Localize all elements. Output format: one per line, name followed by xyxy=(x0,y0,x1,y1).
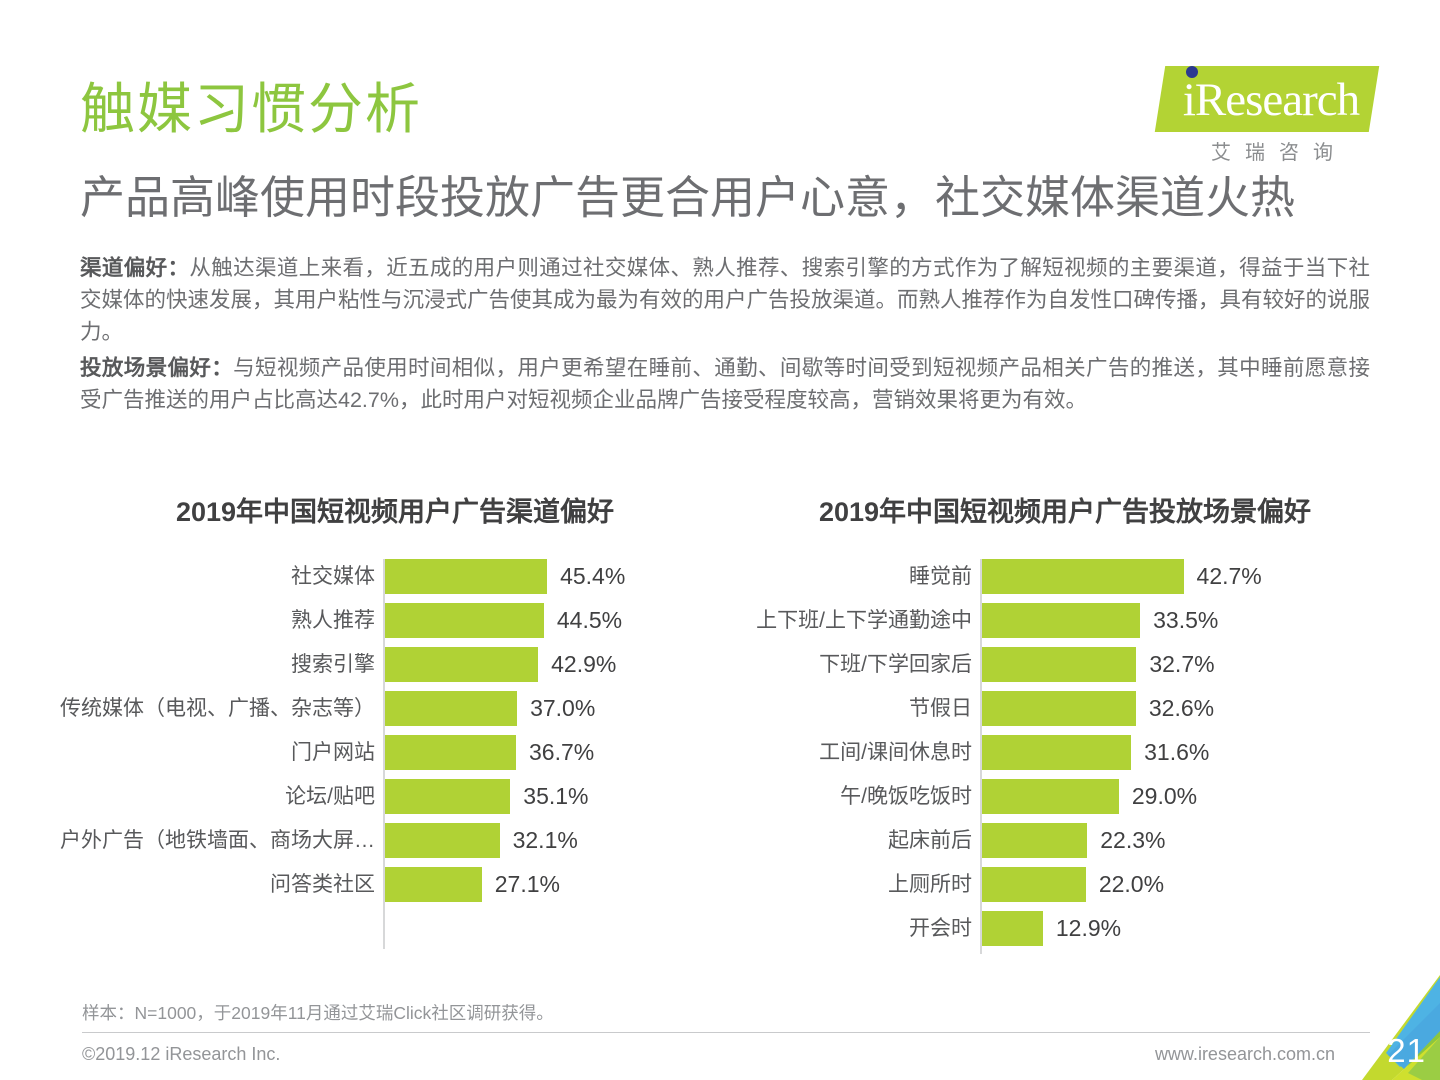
bar-value-label: 42.9% xyxy=(538,647,616,682)
chart-right-axis xyxy=(980,559,982,954)
bar xyxy=(385,691,517,726)
bar-category-label: 熟人推荐 xyxy=(55,603,385,638)
paragraph1-lead: 渠道偏好： xyxy=(80,256,189,280)
bar-row: 搜索引擎42.9% xyxy=(55,647,735,682)
bar xyxy=(385,647,538,682)
bar-row: 问答类社区27.1% xyxy=(55,867,735,902)
bar xyxy=(982,867,1086,902)
logo-dot-icon xyxy=(1186,66,1198,78)
bar-category-label: 上厕所时 xyxy=(715,867,982,902)
website-url[interactable]: www.iresearch.com.cn xyxy=(1155,1044,1335,1065)
bar-value-label: 33.5% xyxy=(1140,603,1218,638)
bar-row: 起床前后22.3% xyxy=(715,823,1415,858)
bar xyxy=(385,603,544,638)
bar-category-label: 节假日 xyxy=(715,691,982,726)
chart-right-title: 2019年中国短视频用户广告投放场景偏好 xyxy=(715,490,1415,529)
bar-row: 工间/课间休息时31.6% xyxy=(715,735,1415,770)
bar-row: 熟人推荐44.5% xyxy=(55,603,735,638)
iresearch-logo: iResearch 艾瑞咨询 xyxy=(1142,58,1382,173)
bar-row: 上下班/上下学通勤途中33.5% xyxy=(715,603,1415,638)
bar-row: 上厕所时22.0% xyxy=(715,867,1415,902)
bar-value-label: 12.9% xyxy=(1043,911,1121,946)
paragraph2-lead: 投放场景偏好： xyxy=(80,356,233,380)
bar-category-label: 户外广告（地铁墙面、商场大屏… xyxy=(55,823,385,858)
chart-right-bars: 睡觉前42.7%上下班/上下学通勤途中33.5%下班/下学回家后32.7%节假日… xyxy=(715,559,1415,946)
bar-value-label: 32.1% xyxy=(500,823,578,858)
bar-category-label: 睡觉前 xyxy=(715,559,982,594)
bar-category-label: 问答类社区 xyxy=(55,867,385,902)
chart-left-bars: 社交媒体45.4%熟人推荐44.5%搜索引擎42.9%传统媒体（电视、广播、杂志… xyxy=(55,559,735,902)
chart-left-plot: 社交媒体45.4%熟人推荐44.5%搜索引擎42.9%传统媒体（电视、广播、杂志… xyxy=(55,559,735,902)
bar xyxy=(982,603,1140,638)
bar-row: 睡觉前42.7% xyxy=(715,559,1415,594)
chart-footnote: 样本：N=1000，于2019年11月通过艾瑞Click社区调研获得。 xyxy=(82,1000,554,1025)
chart-right-plot: 睡觉前42.7%上下班/上下学通勤途中33.5%下班/下学回家后32.7%节假日… xyxy=(715,559,1415,946)
bar-value-label: 31.6% xyxy=(1131,735,1209,770)
bar-category-label: 门户网站 xyxy=(55,735,385,770)
bar-category-label: 上下班/上下学通勤途中 xyxy=(715,603,982,638)
page-subtitle: 产品高峰使用时段投放广告更合用户心意，社交媒体渠道火热 xyxy=(80,170,1295,226)
chart-channel-preference: 2019年中国短视频用户广告渠道偏好 社交媒体45.4%熟人推荐44.5%搜索引… xyxy=(55,490,735,911)
bar-category-label: 论坛/贴吧 xyxy=(55,779,385,814)
bar-row: 门户网站36.7% xyxy=(55,735,735,770)
logo-chinese-name: 艾瑞咨询 xyxy=(1172,136,1372,165)
bar-row: 户外广告（地铁墙面、商场大屏…32.1% xyxy=(55,823,735,858)
bar xyxy=(982,735,1131,770)
bar-row: 论坛/贴吧35.1% xyxy=(55,779,735,814)
bar xyxy=(982,559,1184,594)
bar xyxy=(982,823,1087,858)
bar xyxy=(982,779,1119,814)
bar-value-label: 32.6% xyxy=(1136,691,1214,726)
bar-value-label: 44.5% xyxy=(544,603,622,638)
page-number: 21 xyxy=(1387,1032,1426,1070)
paragraph2-text: 与短视频产品使用时间相似，用户更希望在睡前、通勤、间歇等时间受到短视频产品相关广… xyxy=(80,356,1370,412)
bar-value-label: 35.1% xyxy=(510,779,588,814)
bar-category-label: 开会时 xyxy=(715,911,982,946)
bar-category-label: 搜索引擎 xyxy=(55,647,385,682)
chart-scene-preference: 2019年中国短视频用户广告投放场景偏好 睡觉前42.7%上下班/上下学通勤途中… xyxy=(715,490,1415,955)
bar-value-label: 37.0% xyxy=(517,691,595,726)
bar-value-label: 22.0% xyxy=(1086,867,1164,902)
bar-value-label: 27.1% xyxy=(482,867,560,902)
bar-category-label: 起床前后 xyxy=(715,823,982,858)
body-text: 渠道偏好：从触达渠道上来看，近五成的用户则通过社交媒体、熟人推荐、搜索引擎的方式… xyxy=(80,252,1370,420)
bar xyxy=(982,647,1136,682)
bar xyxy=(982,691,1136,726)
bar xyxy=(385,823,500,858)
bar-category-label: 传统媒体（电视、广播、杂志等） xyxy=(55,691,385,726)
bar-value-label: 45.4% xyxy=(547,559,625,594)
bar xyxy=(385,867,482,902)
bar-row: 社交媒体45.4% xyxy=(55,559,735,594)
bar-value-label: 22.3% xyxy=(1087,823,1165,858)
slide-canvas: 触媒习惯分析 产品高峰使用时段投放广告更合用户心意，社交媒体渠道火热 iRese… xyxy=(0,0,1440,1080)
bar-row: 节假日32.6% xyxy=(715,691,1415,726)
bar-category-label: 午/晚饭吃饭时 xyxy=(715,779,982,814)
bar xyxy=(982,911,1043,946)
paragraph-scene-preference: 投放场景偏好：与短视频产品使用时间相似，用户更希望在睡前、通勤、间歇等时间受到短… xyxy=(80,352,1370,416)
paragraph-channel-preference: 渠道偏好：从触达渠道上来看，近五成的用户则通过社交媒体、熟人推荐、搜索引擎的方式… xyxy=(80,252,1370,348)
paragraph1-text: 从触达渠道上来看，近五成的用户则通过社交媒体、熟人推荐、搜索引擎的方式作为了解短… xyxy=(80,256,1370,344)
bar-category-label: 下班/下学回家后 xyxy=(715,647,982,682)
bar-row: 开会时12.9% xyxy=(715,911,1415,946)
bar xyxy=(385,779,510,814)
logo-wordmark: iResearch xyxy=(1164,70,1378,130)
bar-category-label: 工间/课间休息时 xyxy=(715,735,982,770)
footer-divider xyxy=(82,1032,1370,1033)
chart-left-axis xyxy=(383,559,385,949)
bar-row: 传统媒体（电视、广播、杂志等）37.0% xyxy=(55,691,735,726)
chart-left-title: 2019年中国短视频用户广告渠道偏好 xyxy=(55,490,735,529)
bar-value-label: 42.7% xyxy=(1184,559,1262,594)
bar xyxy=(385,735,516,770)
bar-row: 午/晚饭吃饭时29.0% xyxy=(715,779,1415,814)
bar-value-label: 32.7% xyxy=(1136,647,1214,682)
bar-value-label: 29.0% xyxy=(1119,779,1197,814)
bar-value-label: 36.7% xyxy=(516,735,594,770)
bar xyxy=(385,559,547,594)
copyright-text: ©2019.12 iResearch Inc. xyxy=(82,1044,280,1065)
bar-row: 下班/下学回家后32.7% xyxy=(715,647,1415,682)
bar-category-label: 社交媒体 xyxy=(55,559,385,594)
page-title: 触媒习惯分析 xyxy=(80,78,422,140)
